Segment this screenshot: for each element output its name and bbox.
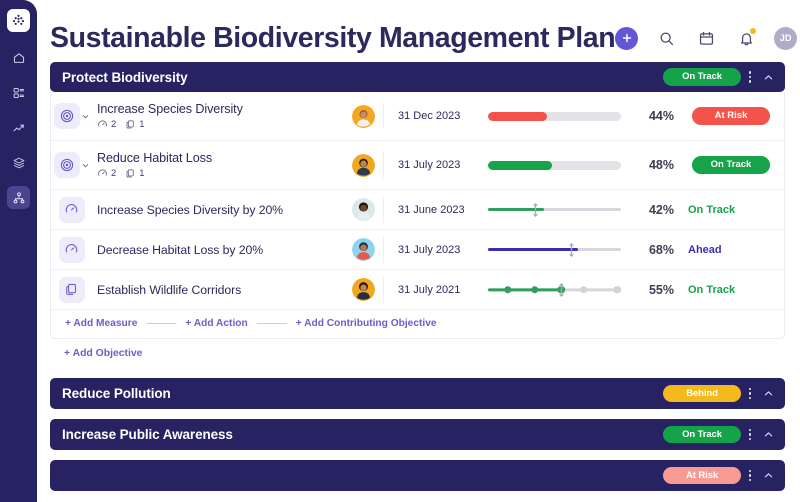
action-count-value: 1 bbox=[139, 119, 144, 130]
layers-icon bbox=[12, 156, 26, 170]
expand-chevron-down-icon[interactable] bbox=[81, 112, 90, 121]
section-protect-biodiversity: Protect Biodiversity On Track bbox=[50, 62, 785, 368]
section-menu-button[interactable] bbox=[741, 465, 759, 487]
chevron-up-icon bbox=[763, 388, 774, 399]
objective-date: 31 July 2023 bbox=[383, 152, 480, 178]
progress-fill bbox=[488, 248, 578, 251]
measure-icon-cell bbox=[51, 270, 92, 309]
sidebar-item-strategy-map[interactable] bbox=[7, 186, 30, 209]
section-collapse-button[interactable] bbox=[759, 383, 777, 405]
sidebar-item-layers[interactable] bbox=[7, 151, 30, 174]
section-increase-public-awareness: Increase Public Awareness On Track bbox=[50, 419, 785, 450]
objective-icon-cell bbox=[51, 141, 92, 189]
more-vertical-icon bbox=[749, 470, 752, 482]
target-marker-icon bbox=[531, 203, 540, 217]
section-menu-button[interactable] bbox=[741, 383, 759, 405]
calendar-icon bbox=[698, 30, 715, 47]
measure-main: Decrease Habitat Loss by 20% bbox=[92, 243, 343, 257]
app-logo-dots-icon[interactable] bbox=[7, 9, 30, 32]
gauge-icon bbox=[97, 119, 108, 130]
target-marker-icon bbox=[567, 243, 576, 257]
status-badge: At Risk bbox=[692, 107, 770, 125]
status-badge: Behind bbox=[663, 385, 741, 403]
search-icon bbox=[658, 30, 675, 47]
chevron-up-icon bbox=[763, 470, 774, 481]
action-count: 1 bbox=[125, 119, 144, 130]
measure-count-value: 2 bbox=[111, 119, 116, 130]
milestone-dot[interactable] bbox=[531, 286, 539, 294]
objective-title: Increase Species Diversity bbox=[97, 102, 343, 116]
measure-status: On Track bbox=[682, 204, 770, 216]
plus-icon bbox=[621, 32, 633, 44]
action-icon bbox=[59, 277, 85, 303]
top-actions: JD bbox=[615, 26, 799, 50]
search-button[interactable] bbox=[654, 26, 678, 50]
measure-count-value: 2 bbox=[111, 168, 116, 179]
objective-icon-cell bbox=[51, 92, 92, 140]
main-area: Sustainable Biodiversity Management Plan bbox=[37, 0, 800, 502]
measure-title: Increase Species Diversity by 20% bbox=[97, 203, 343, 217]
add-links-row: + Add Measure + Add Action + Add Contrib… bbox=[51, 310, 784, 338]
objective-row[interactable]: Increase Species Diversity 2 bbox=[51, 92, 784, 141]
sidebar-item-performance[interactable] bbox=[7, 116, 30, 139]
gauge-icon bbox=[97, 168, 108, 179]
section-header[interactable]: Reduce Pollution Behind bbox=[50, 378, 785, 409]
top-bar: Sustainable Biodiversity Management Plan bbox=[37, 0, 800, 62]
section-collapse-button[interactable] bbox=[759, 424, 777, 446]
notifications-button[interactable] bbox=[734, 26, 758, 50]
section-title: Reduce Pollution bbox=[62, 386, 663, 401]
status-label: On Track bbox=[682, 204, 770, 216]
section-title: Protect Biodiversity bbox=[62, 70, 663, 85]
left-sidebar bbox=[0, 0, 37, 502]
milestone-dot[interactable] bbox=[504, 286, 512, 294]
board-icon bbox=[12, 86, 26, 100]
owner-cell[interactable] bbox=[343, 154, 383, 177]
avatar bbox=[352, 238, 375, 261]
owner-cell[interactable] bbox=[343, 105, 383, 128]
objective-progress bbox=[480, 161, 630, 170]
divider bbox=[146, 323, 176, 324]
measure-icon-cell bbox=[51, 230, 92, 269]
measure-count: 2 bbox=[97, 119, 116, 130]
measure-progress-label: 55% bbox=[630, 283, 682, 297]
owner-cell[interactable] bbox=[343, 198, 383, 221]
chevron-up-icon bbox=[763, 72, 774, 83]
content: Protect Biodiversity On Track bbox=[37, 62, 800, 491]
more-vertical-icon bbox=[749, 429, 752, 441]
notification-dot bbox=[749, 27, 757, 35]
objective-row[interactable]: Reduce Habitat Loss 2 bbox=[51, 141, 784, 190]
measure-main: Establish Wildlife Corridors bbox=[92, 283, 343, 297]
objective-status: At Risk bbox=[682, 107, 770, 125]
divider bbox=[257, 323, 287, 324]
gauge-icon bbox=[59, 197, 85, 223]
progress-track bbox=[488, 112, 621, 121]
measure-title: Decrease Habitat Loss by 20% bbox=[97, 243, 343, 257]
target-icon bbox=[54, 103, 80, 129]
measure-date: 31 July 2021 bbox=[383, 277, 480, 303]
section-partial: At Risk bbox=[50, 460, 785, 491]
more-vertical-icon bbox=[749, 71, 752, 83]
avatar bbox=[352, 154, 375, 177]
measure-date: 31 July 2023 bbox=[383, 237, 480, 263]
add-measure-link[interactable]: + Add Measure bbox=[65, 318, 137, 329]
progress-fill bbox=[488, 288, 561, 291]
user-avatar[interactable]: JD bbox=[774, 27, 797, 50]
progress-track bbox=[488, 161, 621, 170]
action-count: 1 bbox=[125, 168, 144, 179]
action-icon bbox=[125, 168, 136, 179]
measure-progress-label: 68% bbox=[630, 243, 682, 257]
measure-row[interactable]: Decrease Habitat Loss by 20% bbox=[51, 230, 784, 270]
action-count-value: 1 bbox=[139, 168, 144, 179]
status-badge: On Track bbox=[663, 426, 741, 444]
page-title: Sustainable Biodiversity Management Plan bbox=[50, 21, 615, 55]
progress-fill bbox=[488, 161, 552, 170]
sidebar-item-boards[interactable] bbox=[7, 81, 30, 104]
section-header[interactable]: Increase Public Awareness On Track bbox=[50, 419, 785, 450]
target-marker-icon bbox=[557, 283, 566, 297]
owner-cell[interactable] bbox=[343, 238, 383, 261]
measure-date: 31 June 2023 bbox=[383, 197, 480, 223]
measure-count: 2 bbox=[97, 168, 116, 179]
measure-title: Establish Wildlife Corridors bbox=[97, 283, 343, 297]
more-vertical-icon bbox=[749, 388, 752, 400]
target-icon bbox=[54, 152, 80, 178]
sidebar-item-home[interactable] bbox=[7, 46, 30, 69]
objective-title: Reduce Habitat Loss bbox=[97, 151, 343, 165]
objective-progress bbox=[480, 112, 630, 121]
measure-progress bbox=[480, 284, 630, 296]
objective-meta: 2 1 bbox=[97, 119, 343, 130]
hierarchy-icon bbox=[12, 191, 26, 205]
measure-row[interactable]: Establish Wildlife Corridors bbox=[51, 270, 784, 310]
section-title: Increase Public Awareness bbox=[62, 427, 663, 442]
objective-list: Increase Species Diversity 2 bbox=[50, 92, 785, 339]
measure-icon-cell bbox=[51, 190, 92, 229]
status-badge: On Track bbox=[692, 156, 770, 174]
avatar bbox=[352, 105, 375, 128]
measure-progress bbox=[480, 208, 630, 211]
measure-main: Increase Species Diversity by 20% bbox=[92, 203, 343, 217]
measure-progress bbox=[480, 248, 630, 251]
action-icon bbox=[125, 119, 136, 130]
measure-status: Ahead bbox=[682, 244, 770, 256]
add-action-link[interactable]: + Add Action bbox=[185, 318, 247, 329]
add-objective-link[interactable]: + Add Objective bbox=[50, 339, 785, 368]
objective-status: On Track bbox=[682, 156, 770, 174]
measure-progress-label: 42% bbox=[630, 203, 682, 217]
home-icon bbox=[12, 51, 26, 65]
gauge-icon bbox=[59, 237, 85, 263]
chevron-up-icon bbox=[763, 429, 774, 440]
status-badge: On Track bbox=[663, 68, 741, 86]
section-collapse-button[interactable] bbox=[759, 465, 777, 487]
section-menu-button[interactable] bbox=[741, 66, 759, 88]
milestone-dot[interactable] bbox=[580, 286, 588, 294]
owner-cell[interactable] bbox=[343, 278, 383, 301]
milestone-track bbox=[488, 284, 621, 296]
objective-main: Reduce Habitat Loss 2 bbox=[92, 151, 343, 179]
measure-row[interactable]: Increase Species Diversity by 20% bbox=[51, 190, 784, 230]
status-label: Ahead bbox=[682, 244, 770, 256]
objective-progress-label: 48% bbox=[630, 158, 682, 172]
app-root: Sustainable Biodiversity Management Plan bbox=[0, 0, 800, 502]
add-button[interactable] bbox=[615, 27, 638, 50]
progress-fill bbox=[488, 112, 547, 121]
add-contributing-objective-link[interactable]: + Add Contributing Objective bbox=[296, 318, 437, 329]
objective-main: Increase Species Diversity 2 bbox=[92, 102, 343, 130]
objective-progress-label: 44% bbox=[630, 109, 682, 123]
section-header[interactable]: At Risk bbox=[50, 460, 785, 491]
avatar bbox=[352, 198, 375, 221]
milestone-dot[interactable] bbox=[613, 286, 621, 294]
status-label: On Track bbox=[682, 284, 770, 296]
objective-meta: 2 1 bbox=[97, 168, 343, 179]
avatar bbox=[352, 278, 375, 301]
calendar-button[interactable] bbox=[694, 26, 718, 50]
status-badge: At Risk bbox=[663, 467, 741, 485]
section-reduce-pollution: Reduce Pollution Behind bbox=[50, 378, 785, 409]
trending-up-icon bbox=[12, 121, 26, 135]
section-menu-button[interactable] bbox=[741, 424, 759, 446]
section-collapse-button[interactable] bbox=[759, 66, 777, 88]
expand-chevron-down-icon[interactable] bbox=[81, 161, 90, 170]
objective-date: 31 Dec 2023 bbox=[383, 103, 480, 129]
measure-status: On Track bbox=[682, 284, 770, 296]
section-header[interactable]: Protect Biodiversity On Track bbox=[50, 62, 785, 92]
